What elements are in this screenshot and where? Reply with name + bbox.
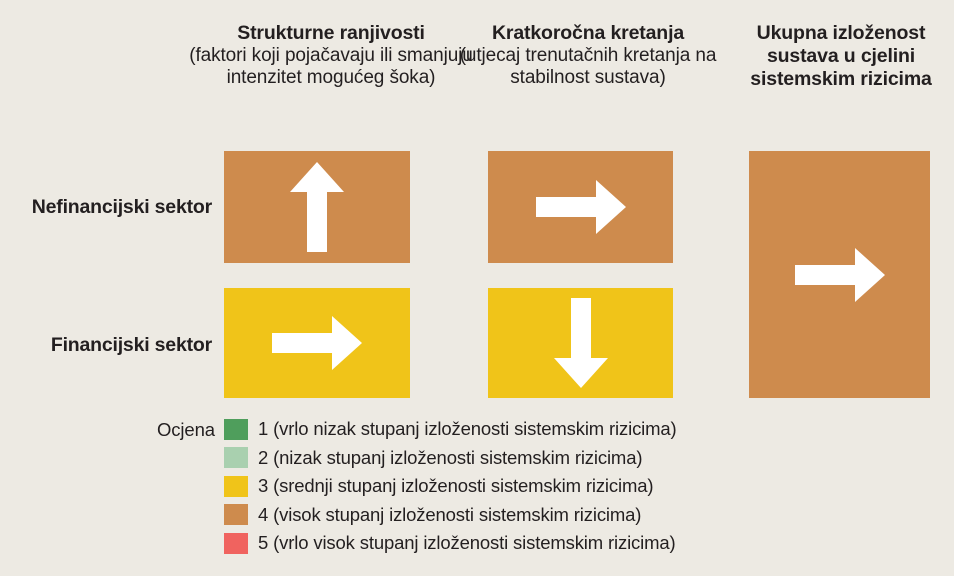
row-label-financial-sector: Financijski sektor bbox=[0, 334, 212, 357]
column-header-subtitle: (utjecaj trenutačnih kretanja na stabiln… bbox=[452, 45, 724, 90]
legend-item-label: 4 (visok stupanj izloženosti sistemskim … bbox=[258, 504, 641, 526]
legend-title: Ocjena bbox=[60, 419, 215, 441]
arrow-up-icon bbox=[290, 162, 344, 252]
matrix-cell-fin-structural bbox=[224, 288, 410, 398]
legend-item: 5 (vrlo visok stupanj izloženosti sistem… bbox=[224, 529, 677, 558]
column-header-short-term-developments: Kratkoročna kretanja (utjecaj trenutačni… bbox=[452, 22, 724, 90]
arrow-right-icon bbox=[272, 316, 362, 370]
legend-swatch-icon bbox=[224, 476, 248, 497]
column-header-subtitle: sustava u cjelini sistemskim rizicima bbox=[736, 45, 946, 91]
arrow-down-icon bbox=[554, 298, 608, 388]
column-header-title: Kratkoročna kretanja bbox=[452, 22, 724, 45]
legend-swatch-icon bbox=[224, 533, 248, 554]
legend-item-label: 3 (srednji stupanj izloženosti sistemski… bbox=[258, 475, 653, 497]
column-header-title: Strukturne ranjivosti bbox=[186, 22, 476, 45]
legend-items: 1 (vrlo nizak stupanj izloženosti sistem… bbox=[224, 415, 677, 558]
column-header-total-exposure: Ukupna izloženost sustava u cjelini sist… bbox=[736, 22, 946, 91]
legend-swatch-icon bbox=[224, 447, 248, 468]
legend-item-label: 2 (nizak stupanj izloženosti sistemskim … bbox=[258, 447, 642, 469]
legend-swatch-icon bbox=[224, 504, 248, 525]
matrix-cell-fin-shortterm bbox=[488, 288, 673, 398]
column-header-title: Ukupna izloženost bbox=[736, 22, 946, 45]
row-label-non-financial-sector: Nefinancijski sektor bbox=[0, 196, 212, 219]
matrix-cell-total-overall bbox=[749, 151, 930, 398]
legend-item: 1 (vrlo nizak stupanj izloženosti sistem… bbox=[224, 415, 677, 444]
legend-item: 4 (visok stupanj izloženosti sistemskim … bbox=[224, 501, 677, 530]
matrix-cell-nonfin-shortterm bbox=[488, 151, 673, 263]
arrow-right-icon bbox=[795, 248, 885, 302]
arrow-right-icon bbox=[536, 180, 626, 234]
matrix-cell-nonfin-structural bbox=[224, 151, 410, 263]
legend-item-label: 1 (vrlo nizak stupanj izloženosti sistem… bbox=[258, 418, 677, 440]
legend-item: 3 (srednji stupanj izloženosti sistemski… bbox=[224, 472, 677, 501]
legend-swatch-icon bbox=[224, 419, 248, 440]
column-header-subtitle: (faktori koji pojačavaju ili smanjuju in… bbox=[186, 45, 476, 90]
legend-item-label: 5 (vrlo visok stupanj izloženosti sistem… bbox=[258, 532, 676, 554]
column-header-structural-vulnerabilities: Strukturne ranjivosti (faktori koji poja… bbox=[186, 22, 476, 90]
systemic-risk-matrix: Strukturne ranjivosti (faktori koji poja… bbox=[0, 0, 954, 576]
legend-item: 2 (nizak stupanj izloženosti sistemskim … bbox=[224, 444, 677, 473]
